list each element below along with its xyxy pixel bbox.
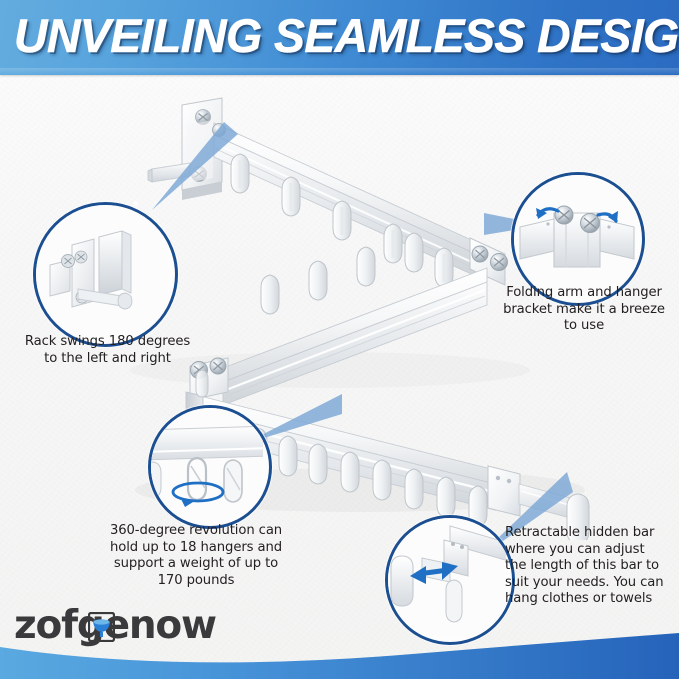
callout-line: Retractable hidden bar bbox=[505, 525, 675, 542]
callout-line: suit your needs. You can bbox=[505, 575, 675, 592]
rotating-hanger-hooks-detail bbox=[151, 408, 263, 520]
callout-line: to the left and right bbox=[5, 351, 210, 368]
header-banner: UNVEILING SEAMLESS DESIGN bbox=[0, 0, 679, 75]
callout-line: where you can adjust bbox=[505, 542, 675, 559]
callout-text-swing: Rack swings 180 degrees to the left and … bbox=[5, 334, 210, 367]
retractable-bar-detail bbox=[388, 518, 506, 636]
callout-text-retractable: Retractable hidden bar where you can adj… bbox=[505, 525, 675, 608]
cone-pointer-swing bbox=[120, 118, 240, 218]
callout-line: to use bbox=[495, 318, 673, 335]
callout-line: 360-degree revolution can bbox=[85, 523, 307, 540]
zoom-circle-revolution bbox=[148, 405, 272, 529]
callout-line: hang clothes or towels bbox=[505, 591, 675, 608]
zoom-circle-swing bbox=[33, 202, 178, 347]
wall-mount-bracket-detail bbox=[36, 205, 169, 338]
bowl-icon bbox=[88, 612, 115, 642]
callout-text-folding-arm: Folding arm and hanger bracket make it a… bbox=[495, 285, 673, 335]
page-title: UNVEILING SEAMLESS DESIGN bbox=[14, 8, 664, 64]
callout-text-revolution: 360-degree revolution can hold up to 18 … bbox=[85, 523, 307, 589]
brand-logo: zofgenow bbox=[14, 603, 216, 649]
zoom-circle-retractable bbox=[385, 515, 515, 645]
callout-line: the length of this bar to bbox=[505, 558, 675, 575]
callout-line: Rack swings 180 degrees bbox=[5, 334, 210, 351]
hinge-bracket-detail bbox=[514, 175, 636, 297]
callout-line: hold up to 18 hangers and bbox=[85, 540, 307, 557]
callout-line: Folding arm and hanger bbox=[495, 285, 673, 302]
callout-line: 170 pounds bbox=[85, 573, 307, 590]
infographic-canvas: UNVEILING SEAMLESS DESIGN Rack swings 18… bbox=[0, 0, 679, 679]
callout-line: bracket make it a breeze bbox=[495, 302, 673, 319]
callout-line: support a weight of up to bbox=[85, 556, 307, 573]
